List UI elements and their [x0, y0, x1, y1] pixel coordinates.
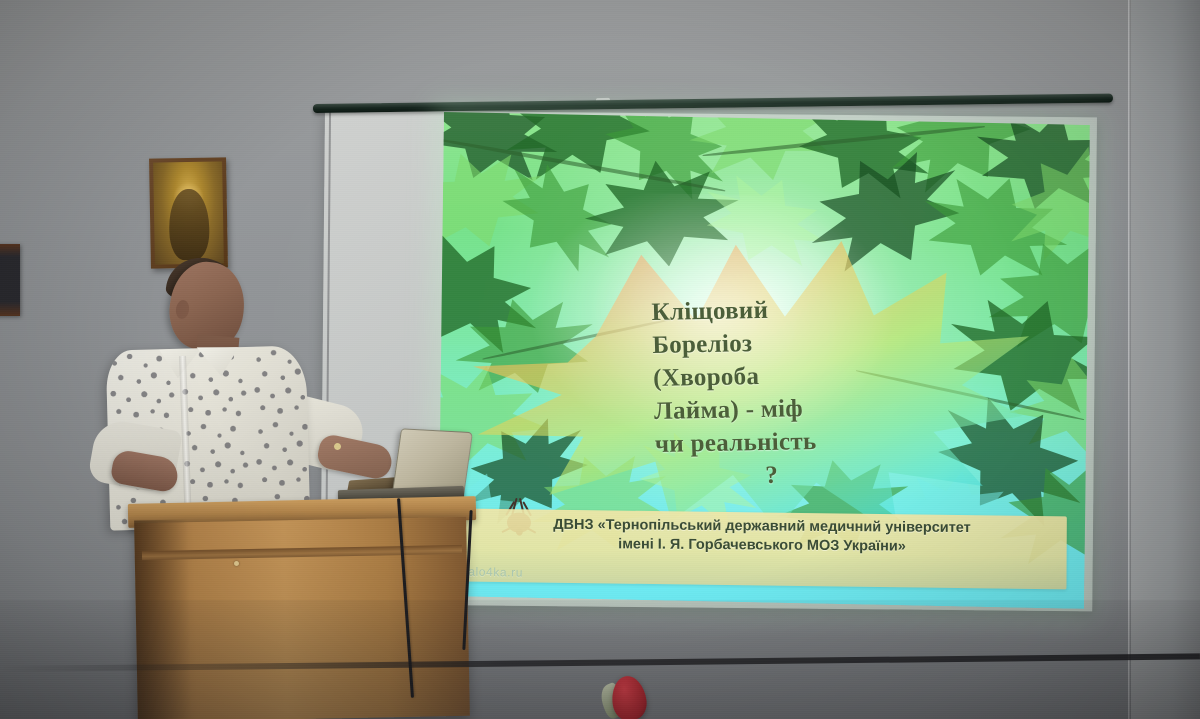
slide-watermark: halo4ka.ru [461, 564, 523, 579]
slide-caption: ДВНЗ «Тернопільський державний медичний … [465, 515, 1059, 557]
slide-title: Кліщовий Бореліоз (Хвороба Лайма) - міф … [651, 291, 953, 494]
religious-icon-canvas [153, 161, 224, 264]
lecture-hall-photo: Кліщовий Бореліоз (Хвороба Лайма) - міф … [0, 0, 1200, 719]
slide-title-question-mark: ? [656, 456, 954, 494]
projected-slide: Кліщовий Бореліоз (Хвороба Лайма) - міф … [438, 112, 1090, 609]
icon-figure [168, 188, 209, 260]
dark-wooden-fixture [0, 244, 20, 316]
religious-icon-framed [149, 157, 228, 268]
slide-canvas: Кліщовий Бореліоз (Хвороба Лайма) - міф … [438, 112, 1090, 609]
lectern-screw [234, 561, 239, 566]
